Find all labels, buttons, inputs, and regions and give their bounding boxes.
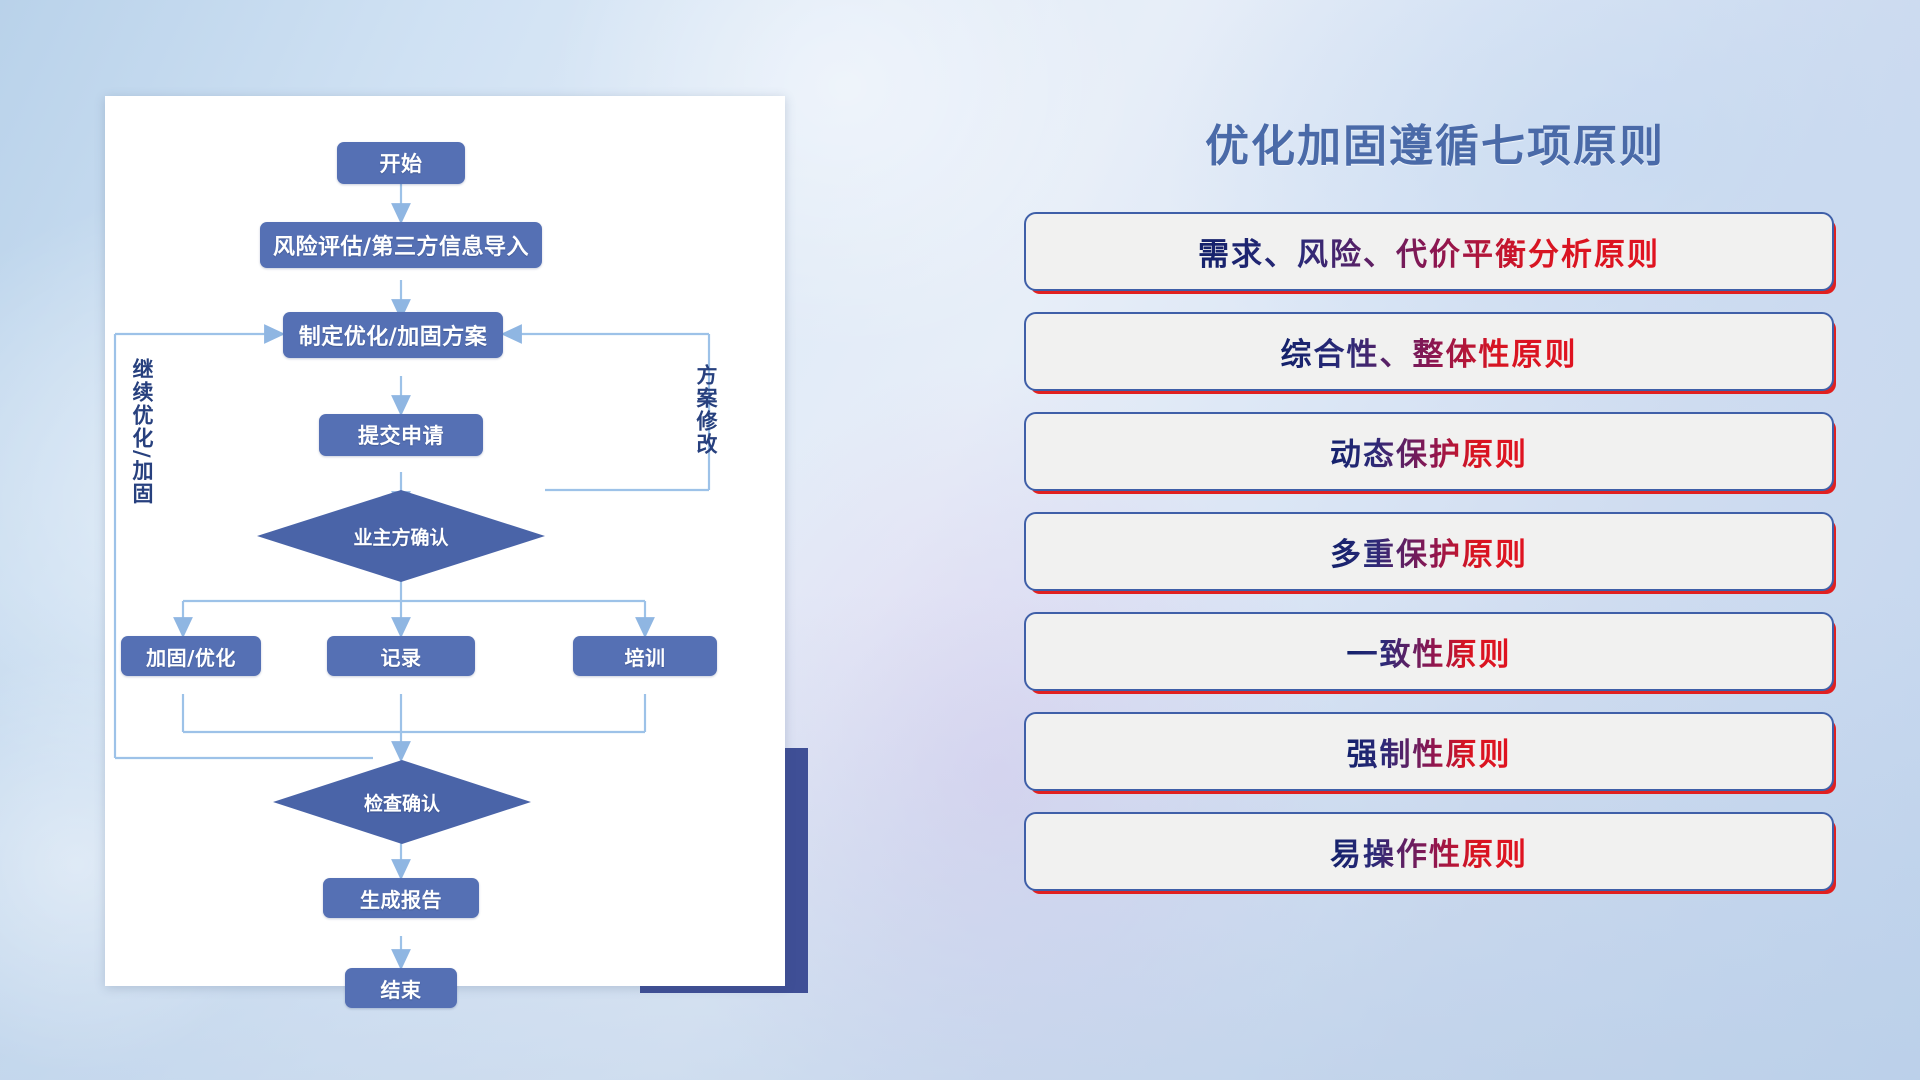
principle-label: 易操作性原则 (1330, 829, 1528, 874)
flow-node-start-label: 开始 (380, 148, 423, 178)
principle-label: 多重保护原则 (1330, 529, 1528, 574)
principle-item-2[interactable]: 综合性、整体性原则 (1024, 312, 1834, 391)
principle-item-7[interactable]: 易操作性原则 (1024, 812, 1834, 891)
flow-node-end-label: 结束 (381, 974, 422, 1003)
principle-label: 动态保护原则 (1330, 429, 1528, 474)
flow-edge-label-right-loop: 方案修改 (695, 364, 717, 494)
principle-item-3[interactable]: 动态保护原则 (1024, 412, 1834, 491)
flow-node-end[interactable]: 结束 (345, 968, 457, 1008)
principle-item-6[interactable]: 强制性原则 (1024, 712, 1834, 791)
flow-node-generate-report[interactable]: 生成报告 (323, 878, 479, 918)
flow-node-owner-confirm-label: 业主方确认 (353, 523, 448, 550)
flow-node-check-confirm-label: 检查确认 (364, 789, 440, 816)
flow-node-owner-confirm[interactable]: 业主方确认 (257, 490, 545, 582)
flow-node-reinforce-optimize[interactable]: 加固/优化 (121, 636, 261, 676)
principle-item-4[interactable]: 多重保护原则 (1024, 512, 1834, 591)
flow-node-training-label: 培训 (625, 642, 666, 671)
flow-edge-label-left-loop: 继续优化/加固 (131, 358, 153, 528)
flow-node-training[interactable]: 培训 (573, 636, 717, 676)
principle-label: 需求、风险、代价平衡分析原则 (1198, 229, 1660, 274)
flow-node-make-plan[interactable]: 制定优化/加固方案 (283, 312, 503, 358)
flow-node-submit-application-label: 提交申请 (358, 420, 444, 450)
principle-label: 综合性、整体性原则 (1281, 329, 1578, 374)
flow-node-risk-assessment-label: 风险评估/第三方信息导入 (273, 229, 529, 261)
principle-list: 需求、风险、代价平衡分析原则 综合性、整体性原则 动态保护原则 多重保护原则 一… (1024, 212, 1834, 912)
principle-label: 强制性原则 (1347, 729, 1512, 774)
flow-node-generate-report-label: 生成报告 (360, 884, 442, 913)
flow-node-risk-assessment[interactable]: 风险评估/第三方信息导入 (260, 222, 542, 268)
principle-label: 一致性原则 (1347, 629, 1512, 674)
flow-node-submit-application[interactable]: 提交申请 (319, 414, 483, 456)
flow-node-record[interactable]: 记录 (327, 636, 475, 676)
principle-item-5[interactable]: 一致性原则 (1024, 612, 1834, 691)
flow-node-record-label: 记录 (381, 642, 422, 671)
principles-panel: 优化加固遵循七项原则 需求、风险、代价平衡分析原则 综合性、整体性原则 动态保护… (1020, 96, 1850, 996)
panel-title: 优化加固遵循七项原则 (1020, 110, 1850, 174)
principle-item-1[interactable]: 需求、风险、代价平衡分析原则 (1024, 212, 1834, 291)
flow-node-check-confirm[interactable]: 检查确认 (273, 760, 531, 844)
flow-node-reinforce-optimize-label: 加固/优化 (146, 642, 236, 671)
flowchart-card: 开始 风险评估/第三方信息导入 制定优化/加固方案 提交申请 业主方确认 加固/… (105, 96, 785, 986)
flow-node-make-plan-label: 制定优化/加固方案 (299, 319, 488, 351)
flow-node-start[interactable]: 开始 (337, 142, 465, 184)
